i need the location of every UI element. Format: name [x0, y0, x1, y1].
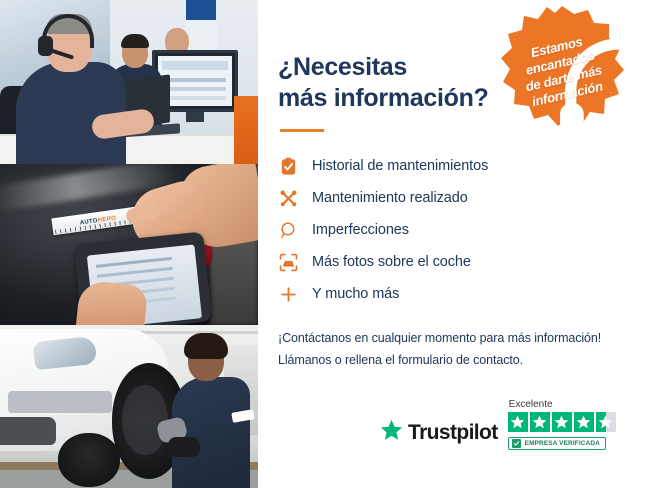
photo1-person2-hair: [121, 34, 149, 48]
verified-business-badge: EMPRESA VERIFICADA: [508, 437, 606, 450]
feature-item-maintenance-done: Mantenimiento realizado: [278, 182, 650, 214]
photo3-mechanic-hair: [184, 333, 228, 359]
trustpilot-star-half: [596, 412, 616, 432]
content-panel: ¿Necesitas más información? Historial de…: [258, 0, 650, 488]
promo-card: AUTOHERO: [0, 0, 650, 488]
photo1-agent-earcup: [38, 36, 53, 56]
photo-column: AUTOHERO: [0, 0, 258, 488]
trustpilot-star-filled: [530, 412, 550, 432]
photo3-rear-wheel: [58, 433, 120, 487]
photo3-grille: [8, 391, 112, 413]
feature-item-imperfections: Imperfecciones: [278, 214, 650, 246]
feature-label: Imperfecciones: [312, 222, 409, 238]
clipboard-check-icon: [278, 156, 298, 176]
photo1-orange-panel: [234, 96, 258, 164]
trustpilot-star-icon: [380, 419, 403, 446]
trustpilot-rating-block: Excelente: [508, 399, 616, 450]
promo-badge: Estamos encantados de darte más informac…: [497, 3, 627, 131]
feature-label: Más fotos sobre el coche: [312, 254, 471, 270]
magnifier-icon: [278, 220, 298, 240]
trustpilot-star-filled: [574, 412, 594, 432]
contact-line-1: ¡Contáctanos en cualquier momento para m…: [278, 331, 601, 345]
check-icon: [512, 439, 521, 448]
feature-label: Y mucho más: [312, 286, 399, 302]
trustpilot-stars: [508, 412, 616, 432]
photo1-poster: [186, 20, 218, 52]
page-title: ¿Necesitas más información?: [278, 52, 528, 113]
contact-text: ¡Contáctanos en cualquier momento para m…: [278, 328, 650, 371]
tools-cross-icon: [278, 188, 298, 208]
feature-item-maintenance-history: Historial de mantenimientos: [278, 150, 650, 182]
feature-item-much-more: Y mucho más: [278, 278, 650, 310]
trustpilot-logo[interactable]: Trustpilot: [380, 419, 498, 446]
photo-call-center-agent: [0, 0, 258, 164]
trustpilot-star-filled: [552, 412, 572, 432]
trustpilot-widget[interactable]: Trustpilot Excelente: [380, 399, 616, 450]
feature-label: Historial de mantenimientos: [312, 158, 488, 174]
feature-item-more-photos: Más fotos sobre el coche: [278, 246, 650, 278]
trustpilot-rating-label: Excelente: [509, 399, 553, 410]
photo-mechanic-wheel-check: [0, 325, 258, 488]
car-photo-scan-icon: [278, 252, 298, 272]
trustpilot-star-filled: [508, 412, 528, 432]
feature-label: Mantenimiento realizado: [312, 190, 468, 206]
photo3-wheel-rim: [122, 385, 168, 455]
trustpilot-wordmark: Trustpilot: [408, 421, 498, 445]
photo-autohero-inspection: AUTOHERO: [0, 164, 258, 325]
photo3-lower-grille: [0, 417, 56, 445]
headline-line-1: ¿Necesitas: [278, 53, 407, 81]
photo1-monitor-stand: [186, 112, 204, 122]
headline-line-2: más información?: [278, 84, 489, 112]
feature-list: Historial de mantenimientos M: [278, 150, 650, 310]
photo3-mechanic-glove-2: [168, 437, 200, 457]
plus-icon: [278, 284, 298, 304]
verified-business-label: EMPRESA VERIFICADA: [525, 440, 600, 447]
contact-line-2: Llámanos o rellena el formulario de cont…: [278, 353, 523, 367]
title-underline-rule: [280, 129, 324, 132]
